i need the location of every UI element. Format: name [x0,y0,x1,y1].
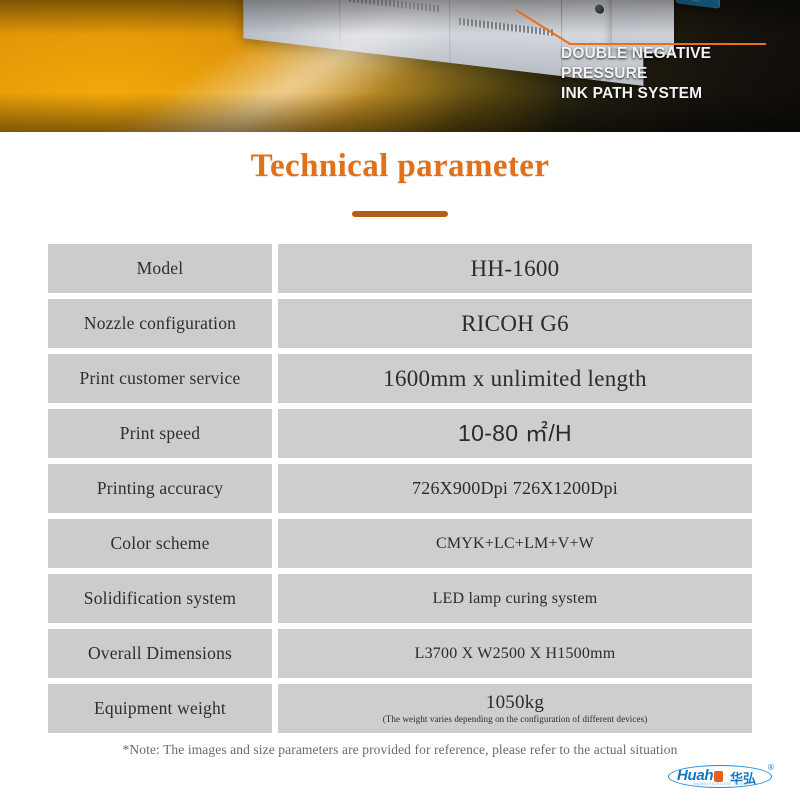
table-row: Print speed10-80 ㎡/H [48,409,752,458]
spec-value-note: (The weight varies depending on the conf… [383,715,648,725]
spec-label-cell: Print customer service [48,354,272,403]
spec-value-text: LED lamp curing system [433,590,598,608]
banner-caption-line-2: INK PATH SYSTEM [561,84,799,104]
spec-label-cell: Print speed [48,409,272,458]
logo-accent-mark [714,771,723,782]
spec-value-cell: L3700 X W2500 X H1500mm [278,629,752,678]
spec-value-cell: LED lamp curing system [278,574,752,623]
registered-trademark-icon: ® [768,763,774,772]
spec-value-text: HH-1600 [471,256,560,282]
page-title: Technical parameter [0,148,800,185]
spec-label-cell: Nozzle configuration [48,299,272,348]
table-row: Printing accuracy726X900Dpi 726X1200Dpi [48,464,752,513]
table-row: Overall DimensionsL3700 X W2500 X H1500m… [48,629,752,678]
spec-label-cell: Equipment weight [48,684,272,733]
table-row: Solidification systemLED lamp curing sys… [48,574,752,623]
table-row: Nozzle configurationRICOH G6 [48,299,752,348]
spec-value-cell: HH-1600 [278,244,752,293]
specification-table: ModelHH-1600Nozzle configurationRICOH G6… [0,244,800,733]
brand-logo[interactable]: Huaho 华弘 HUAHO EXCELLENT TRUST ® [668,765,786,791]
spec-value-text: CMYK+LC+LM+V+W [436,535,594,553]
spec-label-cell: Solidification system [48,574,272,623]
spec-value-cell: 10-80 ㎡/H [278,409,752,458]
title-underline-rule [352,211,448,217]
table-row: Color schemeCMYK+LC+LM+V+W [48,519,752,568]
banner-caption-line-1: DOUBLE NEGATIVE PRESSURE [561,44,799,84]
logo-tagline: HUAHO EXCELLENT TRUST [694,782,746,786]
spec-value-cell: 1600mm x unlimited length [278,354,752,403]
hero-banner: DOUBLE NEGATIVE PRESSURE INK PATH SYSTEM [0,0,800,132]
table-row: Print customer service1600mm x unlimited… [48,354,752,403]
spec-label-cell: Model [48,244,272,293]
spec-label-cell: Color scheme [48,519,272,568]
spec-value-cell: RICOH G6 [278,299,752,348]
spec-label-cell: Overall Dimensions [48,629,272,678]
spec-value-cell: 726X900Dpi 726X1200Dpi [278,464,752,513]
spec-value-text: RICOH G6 [461,311,569,337]
spec-value-cell: 1050kg(The weight varies depending on th… [278,684,752,733]
spec-label-cell: Printing accuracy [48,464,272,513]
spec-value-text: 1600mm x unlimited length [383,366,647,392]
spec-value-text: 726X900Dpi 726X1200Dpi [412,478,618,498]
spec-value-text: 10-80 ㎡/H [458,421,572,447]
footnote-disclaimer: *Note: The images and size parameters ar… [0,742,800,758]
spec-value-text: L3700 X W2500 X H1500mm [415,645,616,663]
table-row: ModelHH-1600 [48,244,752,293]
spec-value-text: 1050kg [486,692,544,713]
table-row: Equipment weight1050kg(The weight varies… [48,684,752,733]
banner-caption: DOUBLE NEGATIVE PRESSURE INK PATH SYSTEM [561,44,799,104]
title-section: Technical parameter [0,132,800,217]
spec-value-cell: CMYK+LC+LM+V+W [278,519,752,568]
